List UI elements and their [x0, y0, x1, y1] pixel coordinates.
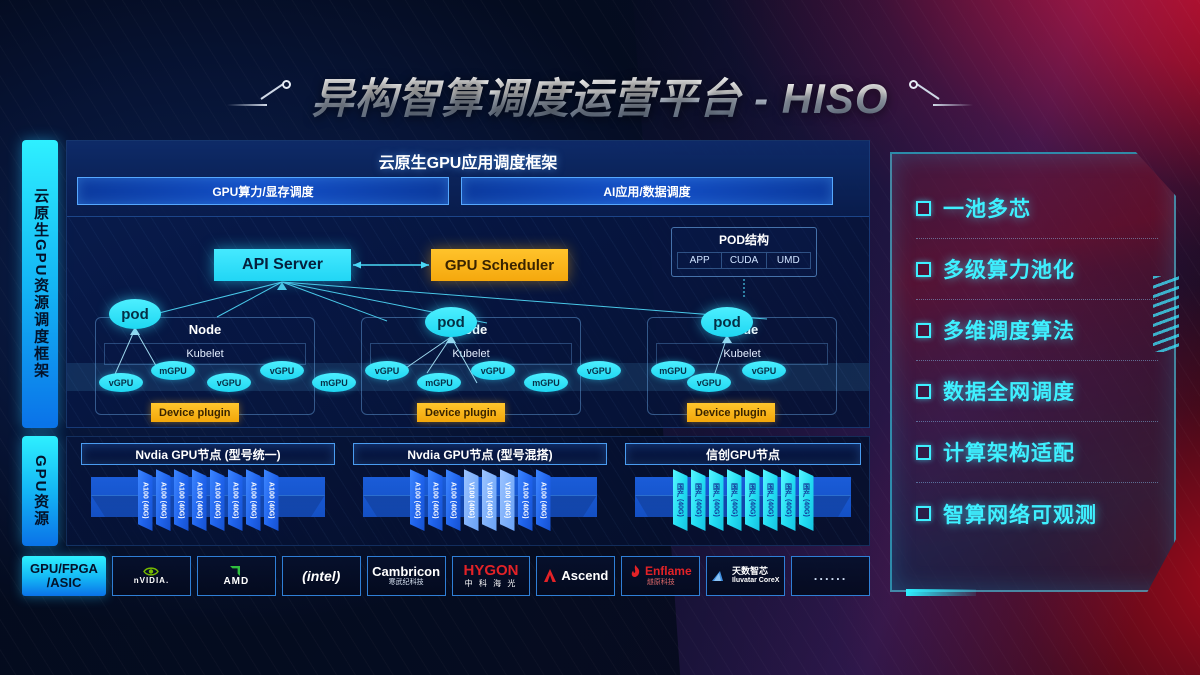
api-server-label: API Server [242, 256, 323, 274]
pod-structure-cell-cuda: CUDA [722, 252, 766, 269]
pod-node-2-label: pod [437, 314, 465, 331]
vendor-logo-enflame[interactable]: Enflame 燧原科技 [621, 556, 700, 596]
vgpu-1-4-label: vGPU [270, 366, 295, 376]
feature-item-4[interactable]: 数据全网调度 [916, 361, 1158, 422]
gpu-scheduler-node[interactable]: GPU Scheduler [431, 249, 568, 281]
checkbox-icon [916, 262, 931, 277]
node-group-2-kubelet: Kubelet [370, 343, 572, 365]
iluvatar-fan-icon [712, 570, 728, 582]
framework-title: 云原生GPU应用调度框架 [67, 149, 869, 173]
vendor-logo-more[interactable]: ...... [791, 556, 870, 596]
vendor-logo-cambricon-sub: 寒武纪科技 [389, 579, 424, 587]
gpu-card[interactable]: A100 (40G) [210, 469, 225, 531]
feature-item-1[interactable]: 一池多芯 [916, 178, 1158, 239]
mgpu-1-5[interactable]: mGPU [312, 373, 356, 392]
device-plugin-2-label: Device plugin [425, 407, 497, 419]
gpu-card[interactable]: 国产 (40G) [673, 469, 688, 531]
gpu-card[interactable]: A100 (40G) [264, 469, 279, 531]
feature-item-2[interactable]: 多级算力池化 [916, 239, 1158, 300]
bar-ai-data-scheduling[interactable]: AI应用/数据调度 [461, 177, 833, 205]
gpu-card-row-1: A100 (40G) A100 (40G) A100 (40G) A100 (4… [81, 469, 335, 531]
vendor-logo-row: GPU/FPGA /ASIC nVIDIA. AMD (intel) Cambr… [22, 556, 870, 596]
vgpu-2-1[interactable]: vGPU [365, 361, 409, 380]
mgpu-2-4[interactable]: mGPU [524, 373, 568, 392]
pod-node-2[interactable]: pod [425, 307, 477, 337]
vgpu-3-3[interactable]: vGPU [742, 361, 786, 380]
gpu-node-group-1-title: Nvdia GPU节点 (型号统一) [81, 443, 335, 465]
vendor-logo-hygon-label: HYGON [464, 563, 519, 579]
gpu-card[interactable]: A100 (40G) [174, 469, 189, 531]
framework-header: 云原生GPU应用调度框架 GPU算力/显存调度 AI应用/数据调度 [67, 141, 869, 217]
vendor-logo-enflame-sub: 燧原科技 [647, 579, 675, 587]
vgpu-2-5[interactable]: vGPU [577, 361, 621, 380]
gpu-card[interactable]: V100 (40G) [500, 469, 515, 531]
enflame-flame-icon [630, 565, 641, 578]
bar-compute-scheduling-label: GPU算力/显存调度 [212, 183, 313, 200]
device-plugin-3-label: Device plugin [695, 407, 767, 419]
feature-item-5-label: 计算架构适配 [943, 437, 1075, 467]
checkbox-icon [916, 384, 931, 399]
gpu-card-row-2: A100 (40G) A100 (40G) A100 (40G) V100 (4… [353, 469, 607, 531]
gpu-card[interactable]: A100 (40G) [228, 469, 243, 531]
vendor-logo-cambricon[interactable]: Cambricon 寒武纪科技 [367, 556, 446, 596]
feature-panel-accent-bar [906, 589, 976, 596]
feature-item-1-label: 一池多芯 [943, 193, 1031, 223]
vgpu-3-3-label: vGPU [752, 366, 777, 376]
checkbox-icon [916, 323, 931, 338]
vendor-logo-ascend-label: Ascend [561, 569, 608, 583]
vgpu-2-3-label: vGPU [481, 366, 506, 376]
sidebar-tab-vendor[interactable]: GPU/FPGA /ASIC [22, 556, 106, 596]
gpu-card[interactable]: 国产 (40G) [763, 469, 778, 531]
gpu-card[interactable]: A100 (40G) [536, 469, 551, 531]
gpu-card[interactable]: A100 (40G) [410, 469, 425, 531]
mgpu-2-4-label: mGPU [532, 378, 560, 388]
api-server-node[interactable]: API Server [214, 249, 351, 281]
feature-item-5[interactable]: 计算架构适配 [916, 422, 1158, 483]
gpu-card[interactable]: V100 (40G) [482, 469, 497, 531]
gpu-resource-panel: Nvdia GPU节点 (型号统一) A100 (40G) A100 (40G)… [66, 436, 870, 546]
vendor-logo-intel-label: (intel) [302, 569, 340, 584]
gpu-scheduler-label: GPU Scheduler [445, 257, 554, 274]
feature-highlights-panel: 一池多芯 多级算力池化 多维调度算法 数据全网调度 计算架构适配 智算网络可观测 [890, 152, 1176, 592]
gpu-card[interactable]: A100 (40G) [138, 469, 153, 531]
slide-title-bar: 异构智算调度运营平台 - HISO [0, 62, 1200, 128]
feature-item-6-label: 智算网络可观测 [943, 499, 1097, 529]
bar-ai-data-scheduling-label: AI应用/数据调度 [603, 183, 690, 200]
gpu-node-group-nvidia-uniform: Nvdia GPU节点 (型号统一) A100 (40G) A100 (40G)… [81, 443, 335, 543]
vgpu-2-1-label: vGPU [375, 366, 400, 376]
vgpu-1-3[interactable]: vGPU [207, 373, 251, 392]
vendor-logo-enflame-label: Enflame [645, 565, 692, 578]
pod-structure-title: POD结构 [672, 231, 816, 248]
device-plugin-1-label: Device plugin [159, 407, 231, 419]
gpu-card[interactable]: A100 (40G) [246, 469, 261, 531]
title-decoration-left-icon [227, 78, 293, 112]
vgpu-1-1-label: vGPU [109, 378, 134, 388]
vendor-logo-cambricon-label: Cambricon [372, 565, 440, 579]
vgpu-1-4[interactable]: vGPU [260, 361, 304, 380]
gpu-node-group-3-title: 信创GPU节点 [625, 443, 861, 465]
pod-node-3[interactable]: pod [701, 307, 753, 337]
mgpu-3-1-label: mGPU [659, 366, 687, 376]
gpu-card[interactable]: 国产 (40G) [691, 469, 706, 531]
gpu-card[interactable]: 国产 (40G) [727, 469, 742, 531]
gpu-card-row-3: 国产 (40G) 国产 (40G) 国产 (40G) 国产 (40G) 国产 (… [625, 469, 861, 531]
pod-node-1-label: pod [121, 306, 149, 323]
vendor-logo-iluvatar[interactable]: 天数智芯 Iluvatar CoreX [706, 556, 785, 596]
gpu-card[interactable]: V100 (40G) [464, 469, 479, 531]
pod-structure-cell-app: APP [677, 252, 722, 269]
vendor-logo-iluvatar-label: 天数智芯 [732, 567, 768, 576]
mgpu-1-5-label: mGPU [320, 378, 348, 388]
mgpu-3-1[interactable]: mGPU [651, 361, 695, 380]
vgpu-1-3-label: vGPU [217, 378, 242, 388]
pod-structure-box: POD结构 APP CUDA UMD [671, 227, 817, 277]
sidebar-tab-gpu-resource-label: GPU资源 [32, 455, 48, 528]
sidebar-tab-vendor-line2: /ASIC [47, 576, 82, 590]
gpu-card[interactable]: A100 (40G) [156, 469, 171, 531]
gpu-card[interactable]: 国产 (40G) [799, 469, 814, 531]
page-title: 异构智算调度运营平台 - HISO [311, 65, 888, 126]
mgpu-1-2-label: mGPU [159, 366, 187, 376]
gpu-card[interactable]: A100 (40G) [446, 469, 461, 531]
title-decoration-right-icon [907, 78, 973, 112]
ascend-a-icon [543, 569, 557, 582]
vendor-logo-more-label: ...... [814, 569, 848, 583]
vendor-logo-amd-label: AMD [223, 577, 249, 588]
slide-canvas: 异构智算调度运营平台 - HISO 云原生GPU资源调度框架 GPU资源 云原生… [0, 0, 1200, 675]
vendor-logo-nvidia[interactable]: nVIDIA. [112, 556, 191, 596]
gpu-node-group-2-title: Nvdia GPU节点 (型号混搭) [353, 443, 607, 465]
vendor-logo-intel[interactable]: (intel) [282, 556, 361, 596]
device-plugin-2[interactable]: Device plugin [417, 403, 505, 422]
sidebar-tab-framework-label: 云原生GPU资源调度框架 [32, 188, 48, 380]
gpu-card[interactable]: 国产 (40G) [709, 469, 724, 531]
mgpu-2-2-label: mGPU [425, 378, 453, 388]
sidebar-tab-vendor-line1: GPU/FPGA [30, 562, 98, 576]
vgpu-3-2[interactable]: vGPU [687, 373, 731, 392]
vgpu-1-1[interactable]: vGPU [99, 373, 143, 392]
bar-compute-scheduling[interactable]: GPU算力/显存调度 [77, 177, 449, 205]
gpu-card[interactable]: 国产 (40G) [745, 469, 760, 531]
gpu-node-group-domestic: 信创GPU节点 国产 (40G) 国产 (40G) 国产 (40G) 国产 (4… [625, 443, 861, 543]
checkbox-icon [916, 445, 931, 460]
pod-structure-cell-umd: UMD [767, 252, 811, 269]
gpu-card[interactable]: A100 (40G) [428, 469, 443, 531]
feature-item-3-label: 多维调度算法 [943, 315, 1075, 345]
vendor-logo-hygon[interactable]: HYGON 中 科 海 光 [452, 556, 531, 596]
feature-item-3[interactable]: 多维调度算法 [916, 300, 1158, 361]
feature-list: 一池多芯 多级算力池化 多维调度算法 数据全网调度 计算架构适配 智算网络可观测 [916, 178, 1158, 570]
checkbox-icon [916, 201, 931, 216]
vendor-logo-amd[interactable]: AMD [197, 556, 276, 596]
architecture-diagram: 云原生GPU资源调度框架 GPU资源 云原生GPU应用调度框架 GPU算力/显存… [22, 140, 870, 600]
feature-item-2-label: 多级算力池化 [943, 254, 1075, 284]
gpu-node-group-nvidia-mixed: Nvdia GPU节点 (型号混搭) A100 (40G) A100 (40G)… [353, 443, 607, 543]
feature-item-6[interactable]: 智算网络可观测 [916, 483, 1158, 544]
checkbox-icon [916, 506, 931, 521]
vendor-logo-nvidia-label: nVIDIA. [134, 577, 169, 585]
device-plugin-3[interactable]: Device plugin [687, 403, 775, 422]
pod-node-1[interactable]: pod [109, 299, 161, 329]
vgpu-2-3[interactable]: vGPU [471, 361, 515, 380]
vgpu-3-2-label: vGPU [697, 378, 722, 388]
framework-panel: 云原生GPU应用调度框架 GPU算力/显存调度 AI应用/数据调度 [66, 140, 870, 428]
mgpu-1-2[interactable]: mGPU [151, 361, 195, 380]
device-plugin-1[interactable]: Device plugin [151, 403, 239, 422]
amd-arrow-icon [229, 565, 243, 577]
sidebar-tab-framework[interactable]: 云原生GPU资源调度框架 [22, 140, 58, 428]
gpu-card[interactable]: 国产 (40G) [781, 469, 796, 531]
vendor-logo-hygon-sub: 中 科 海 光 [465, 580, 518, 589]
sidebar-tab-gpu-resource[interactable]: GPU资源 [22, 436, 58, 546]
gpu-card[interactable]: A100 (40G) [192, 469, 207, 531]
vendor-logo-ascend[interactable]: Ascend [536, 556, 615, 596]
pod-node-3-label: pod [713, 314, 741, 331]
mgpu-2-2[interactable]: mGPU [417, 373, 461, 392]
gpu-card[interactable]: A100 (40G) [518, 469, 533, 531]
feature-item-4-label: 数据全网调度 [943, 376, 1075, 406]
vendor-logo-iluvatar-sub: Iluvatar CoreX [732, 577, 779, 585]
vgpu-2-5-label: vGPU [587, 366, 612, 376]
